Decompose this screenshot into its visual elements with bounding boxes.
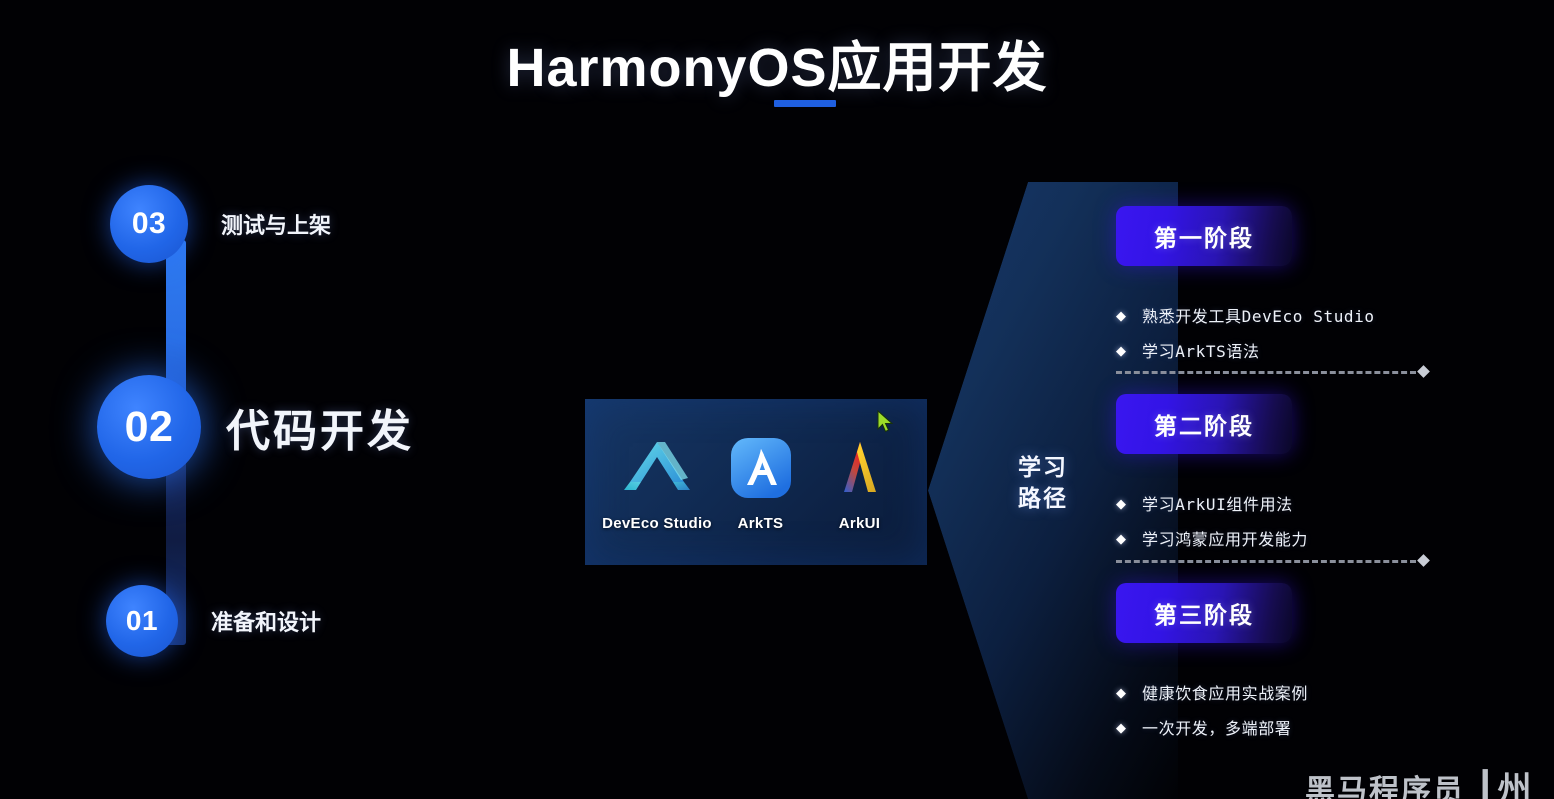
phase-3-bullets: ◆ 健康饮食应用实战案例 ◆ 一次开发，多端部署 — [1116, 680, 1546, 739]
tool-item-deveco[interactable]: DevEco Studio — [603, 433, 711, 532]
tool-item-arkts[interactable]: ArkTS — [711, 433, 810, 532]
phase-1-chip[interactable]: 第一阶段 — [1116, 206, 1292, 266]
tool-caption-arkts: ArkTS — [738, 515, 784, 532]
timeline-node-02[interactable]: 02 代码开发 — [97, 375, 414, 479]
phase-2-bullet-2: 学习鸿蒙应用开发能力 — [1142, 526, 1308, 550]
learning-path-label-line2: 路径 — [988, 483, 1098, 514]
tool-logo-row: DevEco Studio — [585, 399, 927, 565]
deveco-studio-logo-icon — [618, 433, 696, 503]
phase-divider-1-line — [1116, 371, 1416, 374]
os-accent-underline — [774, 100, 836, 107]
phase-1-bullet-1: 熟悉开发工具DevEco Studio — [1142, 303, 1375, 327]
watermark: 黑马程序员┃州 — [1305, 762, 1533, 799]
watermark-mark-icon: ┃州 — [1475, 762, 1533, 799]
slide-canvas: HarmonyOS应用开发 03 测试与上架 02 代码开发 01 准备和设计 — [0, 0, 1554, 799]
tool-logo-card: DevEco Studio — [585, 399, 927, 565]
phase-2-bullets: ◆ 学习ArkUI组件用法 ◆ 学习鸿蒙应用开发能力 — [1116, 491, 1546, 550]
phase-divider-1-endpoint-icon — [1417, 365, 1430, 378]
list-item: ◆ 熟悉开发工具DevEco Studio — [1116, 303, 1546, 327]
phase-2-chip[interactable]: 第二阶段 — [1116, 394, 1292, 454]
timeline-node-02-label: 代码开发 — [226, 395, 414, 459]
tool-caption-arkui: ArkUI — [839, 515, 881, 532]
phase-1-bullets: ◆ 熟悉开发工具DevEco Studio ◆ 学习ArkTS语法 — [1116, 303, 1546, 362]
timeline: 03 测试与上架 02 代码开发 01 准备和设计 — [110, 185, 510, 705]
learning-path-label-line1: 学习 — [988, 452, 1098, 483]
phase-3-chip[interactable]: 第三阶段 — [1116, 583, 1292, 643]
tool-caption-deveco: DevEco Studio — [602, 515, 712, 532]
mouse-pointer-icon — [877, 410, 895, 434]
page-title-text: HarmonyOS应用开发 — [506, 38, 1047, 98]
timeline-node-01-number: 01 — [106, 585, 178, 657]
list-item: ◆ 学习鸿蒙应用开发能力 — [1116, 526, 1546, 550]
timeline-node-01[interactable]: 01 准备和设计 — [106, 585, 321, 657]
phase-divider-1 — [1116, 367, 1428, 377]
phase-divider-2-endpoint-icon — [1417, 554, 1430, 567]
timeline-node-03-number: 03 — [110, 185, 188, 263]
tool-item-arkui[interactable]: ArkUI — [810, 433, 909, 532]
diamond-bullet-icon: ◆ — [1116, 309, 1126, 322]
list-item: ◆ 一次开发，多端部署 — [1116, 715, 1546, 739]
phase-1-bullet-2: 学习ArkTS语法 — [1142, 338, 1260, 362]
timeline-node-02-number: 02 — [97, 375, 201, 479]
diamond-bullet-icon: ◆ — [1116, 532, 1126, 545]
phase-list: 第一阶段 ◆ 熟悉开发工具DevEco Studio ◆ 学习ArkTS语法 第… — [1116, 206, 1546, 766]
phase-divider-2 — [1116, 556, 1428, 566]
learning-path-label: 学习 路径 — [988, 452, 1098, 514]
arkui-logo-icon — [829, 433, 891, 503]
arkts-logo-icon — [730, 433, 792, 503]
timeline-node-03[interactable]: 03 测试与上架 — [110, 185, 331, 263]
list-item: ◆ 学习ArkTS语法 — [1116, 338, 1546, 362]
diamond-bullet-icon: ◆ — [1116, 344, 1126, 357]
timeline-node-03-label: 测试与上架 — [221, 208, 331, 240]
list-item: ◆ 学习ArkUI组件用法 — [1116, 491, 1546, 515]
phase-block-2: 第二阶段 ◆ 学习ArkUI组件用法 ◆ 学习鸿蒙应用开发能力 — [1116, 394, 1546, 561]
list-item: ◆ 健康饮食应用实战案例 — [1116, 680, 1546, 704]
timeline-node-01-label: 准备和设计 — [211, 605, 321, 637]
diamond-bullet-icon: ◆ — [1116, 721, 1126, 734]
phase-3-bullet-1: 健康饮食应用实战案例 — [1142, 680, 1308, 704]
watermark-text: 黑马程序员 — [1305, 775, 1465, 799]
phase-block-3: 第三阶段 ◆ 健康饮食应用实战案例 ◆ 一次开发，多端部署 — [1116, 583, 1546, 750]
title-area: HarmonyOS应用开发 — [0, 40, 1554, 97]
phase-divider-2-line — [1116, 560, 1416, 563]
phase-2-bullet-1: 学习ArkUI组件用法 — [1142, 491, 1293, 515]
diamond-bullet-icon: ◆ — [1116, 497, 1126, 510]
phase-3-bullet-2: 一次开发，多端部署 — [1142, 715, 1291, 739]
page-title: HarmonyOS应用开发 — [506, 40, 1047, 97]
phase-block-1: 第一阶段 ◆ 熟悉开发工具DevEco Studio ◆ 学习ArkTS语法 — [1116, 206, 1546, 373]
diamond-bullet-icon: ◆ — [1116, 686, 1126, 699]
